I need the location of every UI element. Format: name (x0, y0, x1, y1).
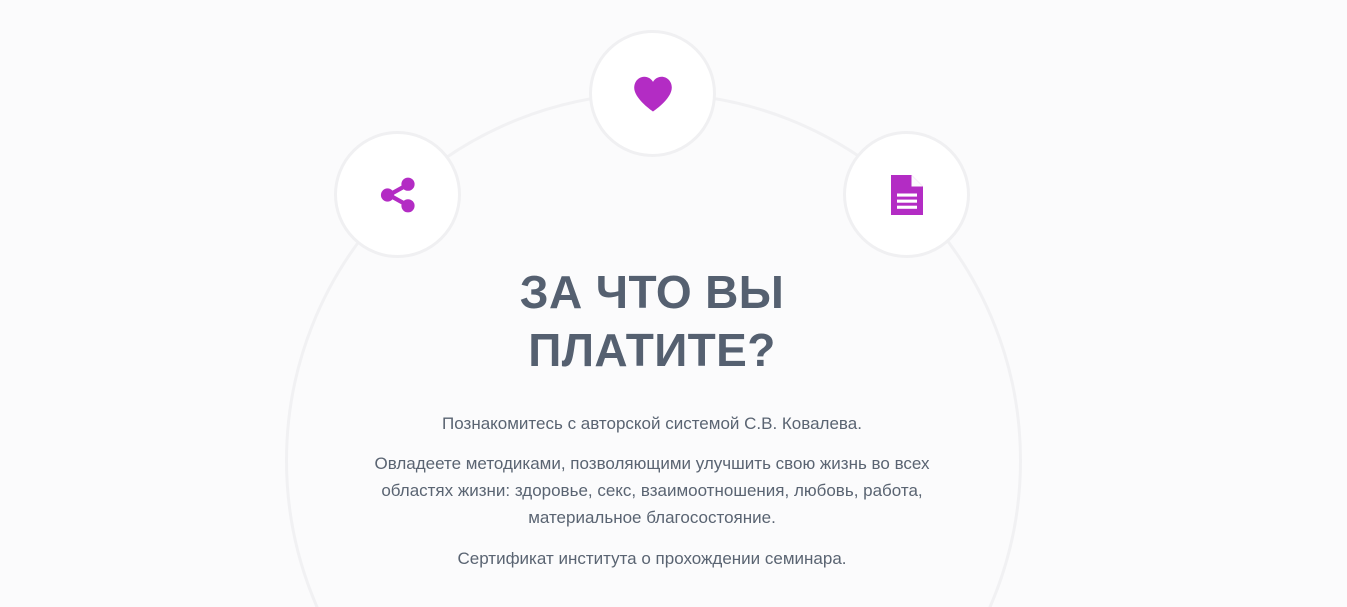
paragraph-3: Сертификат института о прохождении семин… (373, 545, 931, 572)
share-icon (378, 175, 418, 215)
paragraph-1: Познакомитесь с авторской системой С.В. … (373, 410, 931, 437)
paragraph-2: Овладеете методиками, позволяющими улучш… (373, 450, 931, 531)
icon-bubble-share[interactable] (334, 131, 461, 258)
page-title: ЗА ЧТО ВЫ ПЛАТИТЕ? (423, 263, 881, 379)
document-icon (889, 174, 925, 216)
icon-bubble-heart[interactable] (589, 30, 716, 157)
heart-icon (633, 76, 673, 112)
icon-bubble-document[interactable] (843, 131, 970, 258)
body-copy: Познакомитесь с авторской системой С.В. … (373, 410, 931, 572)
page-section: ЗА ЧТО ВЫ ПЛАТИТЕ? Познакомитесь с автор… (0, 0, 1347, 607)
